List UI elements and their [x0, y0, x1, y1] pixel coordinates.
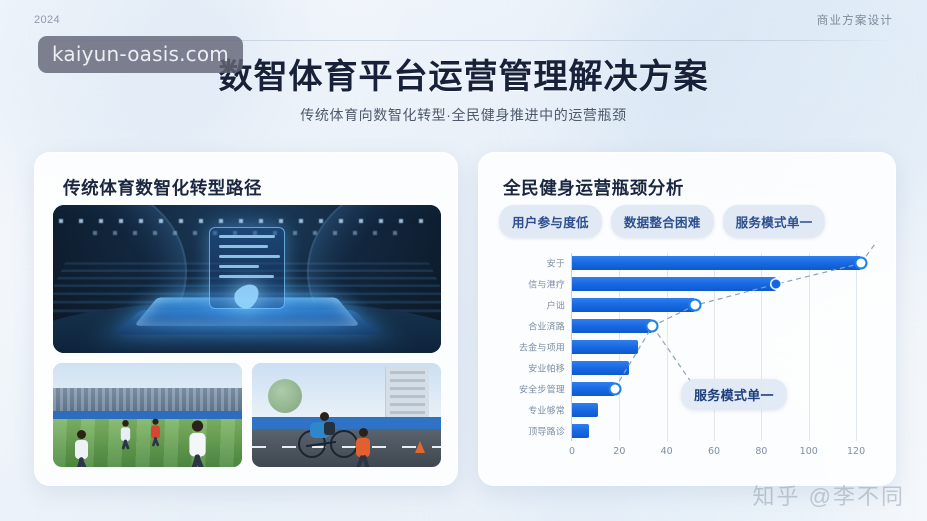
bottleneck-tag[interactable]: 用户参与度低 [499, 205, 602, 238]
page-subtitle: 传统体育向数智化转型·全民健身推进中的运营瓶颈 [0, 105, 927, 125]
chart-x-tick: 0 [569, 446, 575, 457]
right-panel-card: 全民健身运营瓶颈分析 用户参与度低 数据整合困难 服务模式单一 安于信与港疗户诎… [478, 152, 896, 486]
chart-data-marker[interactable] [771, 280, 780, 289]
chart-category-label: 安业帕移 [528, 361, 565, 374]
right-panel-title: 全民健身运营瓶颈分析 [503, 175, 877, 200]
left-panel-card: 传统体育数智化转型路径 [34, 152, 458, 486]
chart-x-tick: 60 [708, 446, 720, 457]
slide-header: 2024 商业方案设计 [0, 0, 927, 40]
chart-data-marker[interactable] [646, 320, 659, 333]
photo-football [53, 363, 242, 467]
chart-category-label: 去金与项用 [519, 341, 565, 354]
chart-data-marker[interactable] [854, 257, 867, 270]
chart-x-tick: 100 [800, 446, 818, 457]
chart-x-tick: 120 [847, 446, 865, 457]
chart-x-tick: 80 [755, 446, 767, 457]
site-watermark-badge: kaiyun-oasis.com [38, 36, 243, 73]
bottleneck-bar-chart: 安于信与港疗户诎合业済路去金与项用安业帕移安全步管理专业够常顶导路诊020406… [493, 249, 883, 467]
chart-category-label: 信与港疗 [528, 278, 565, 291]
header-tagline: 商业方案设计 [817, 12, 893, 28]
chart-x-tick: 40 [661, 446, 673, 457]
bottleneck-tag[interactable]: 服务模式单一 [723, 205, 826, 238]
bottleneck-tag[interactable]: 数据整合困难 [611, 205, 714, 238]
photo-strip [53, 363, 441, 467]
chart-category-label: 安全步管理 [519, 382, 565, 395]
photo-cycling [252, 363, 441, 467]
chart-category-label: 顶导路诊 [528, 424, 565, 437]
chart-category-label: 户诎 [547, 299, 565, 312]
bottleneck-tag-list: 用户参与度低 数据整合困难 服务模式单一 [499, 205, 825, 238]
chart-category-label: 安于 [547, 257, 565, 270]
chart-category-label: 合业済路 [528, 320, 565, 333]
chart-x-tick: 20 [613, 446, 625, 457]
chart-data-marker[interactable] [608, 382, 621, 395]
chart-plot-area: 安于信与港疗户诎合业済路去金与项用安业帕移安全步管理专业够常顶导路诊020406… [571, 253, 875, 441]
author-watermark: 知乎 @李不同 [753, 479, 905, 511]
header-year: 2024 [34, 14, 60, 26]
chart-data-marker[interactable] [689, 299, 702, 312]
stadium-hero-image [53, 205, 441, 353]
chart-annotation-callout: 服务模式单一 [681, 379, 787, 410]
chart-trend-line [572, 253, 875, 441]
chart-category-label: 专业够常 [528, 403, 565, 416]
left-panel-title: 传统体育数智化转型路径 [63, 175, 439, 200]
